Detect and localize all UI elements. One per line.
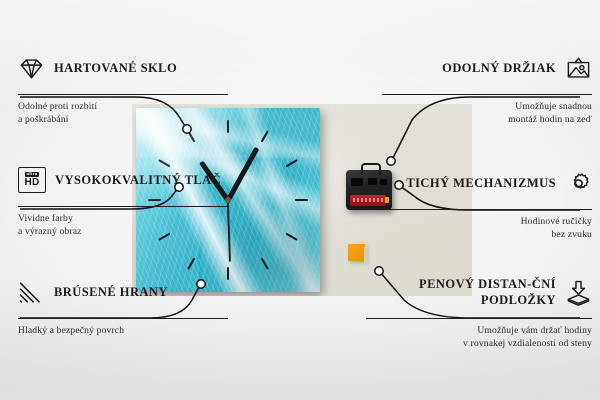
feature-title: BRÚSENÉ HRANY <box>54 284 168 300</box>
feature-durable-holder: ODOLNÝ DRŽIAK Umožňuje snadnou montáž ho… <box>382 48 592 126</box>
feature-description: Umožňuje vám držať hodiny v rovnakej vzd… <box>366 324 592 350</box>
infographic-canvas: HARTOVANÉ SKLO Odolné proti rozbití a po… <box>0 0 600 400</box>
feature-description: Hladký a bezpečný povrch <box>18 324 228 337</box>
ultra-hd-icon: ultraHD <box>18 167 46 193</box>
feature-description: Umožňuje snadnou montáž hodin na zeď <box>382 100 592 126</box>
beveled-edges-icon <box>18 279 45 306</box>
divider <box>382 209 592 210</box>
gear-icon <box>565 170 592 197</box>
picture-frame-icon <box>565 55 592 82</box>
feature-description: Hodinové ručičky bez zvuku <box>382 215 592 241</box>
feature-description: Odolné proti rozbití a poškrábání <box>18 100 228 126</box>
feature-polished-edges: BRÚSENÉ HRANY Hladký a bezpečný povrch <box>18 272 228 337</box>
feature-title: ODOLNÝ DRŽIAK <box>442 60 556 76</box>
divider <box>18 206 228 207</box>
feature-title: VYSOKOKVALITNÝ TLAČ <box>55 172 221 188</box>
feature-high-quality-print: ultraHD VYSOKOKVALITNÝ TLAČ Vivídne farb… <box>18 160 228 238</box>
feature-title: PENOVÝ DISTAN-ČNÍ PODLOŽKY <box>366 276 556 308</box>
stack-arrow-icon <box>565 279 592 306</box>
divider <box>18 318 228 319</box>
feature-title: HARTOVANÉ SKLO <box>54 60 177 76</box>
divider <box>366 318 592 319</box>
diamond-icon <box>18 55 45 82</box>
feature-title: TICHÝ MECHANIZMUS <box>406 175 556 191</box>
feature-tempered-glass: HARTOVANÉ SKLO Odolné proti rozbití a po… <box>18 48 228 126</box>
feature-description: Vivídne farby a výrazný obraz <box>18 212 228 238</box>
divider <box>382 94 592 95</box>
feature-silent-mechanism: TICHÝ MECHANIZMUS Hodinové ručičky bez z… <box>382 163 592 241</box>
feature-foam-spacers: PENOVÝ DISTAN-ČNÍ PODLOŽKY Umožňuje vám … <box>366 272 592 350</box>
divider <box>18 94 228 95</box>
